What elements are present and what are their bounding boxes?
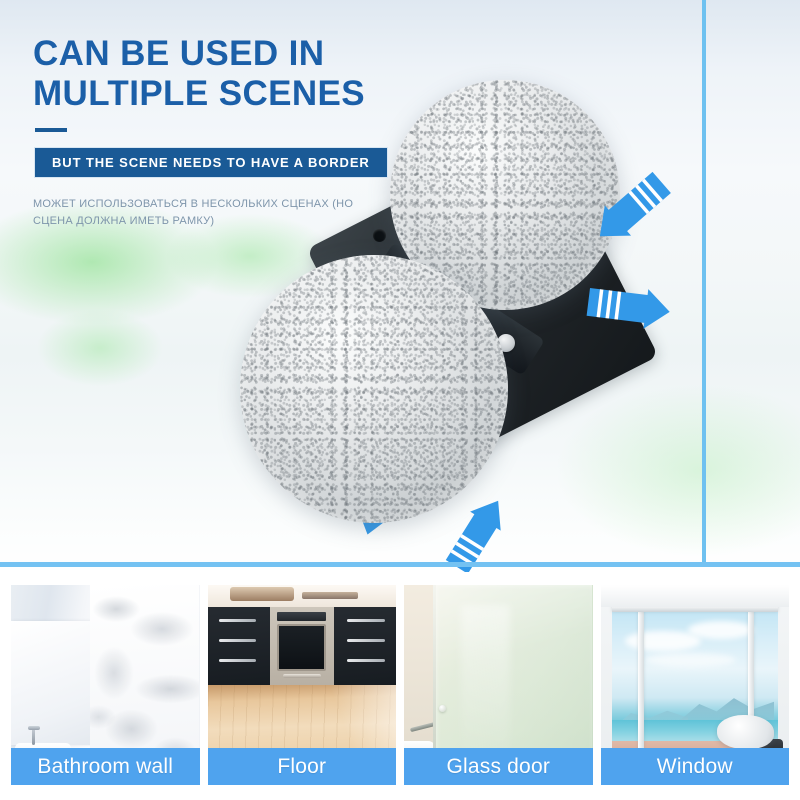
hero-baseline-rule bbox=[0, 562, 800, 567]
scene-label-glass-door: Glass door bbox=[404, 748, 593, 785]
scene-card-bathroom-wall[interactable]: Bathroom wall bbox=[11, 585, 200, 785]
headline-line-2: MULTIPLE SCENES bbox=[33, 74, 433, 114]
hero-section: CAN BE USED IN MULTIPLE SCENES BUT THE S… bbox=[0, 0, 800, 572]
arrow-up-right-bottom-icon bbox=[442, 490, 515, 572]
scene-card-window[interactable]: Window bbox=[601, 585, 790, 785]
scene-border-badge: BUT THE SCENE NEEDS TO HAVE A BORDER bbox=[34, 147, 388, 178]
scene-label-window: Window bbox=[601, 748, 790, 785]
scene-border-badge-label: BUT THE SCENE NEEDS TO HAVE A BORDER bbox=[52, 155, 370, 170]
scene-label-bathroom-wall: Bathroom wall bbox=[11, 748, 200, 785]
product-photo bbox=[220, 60, 720, 560]
headline-dash-accent bbox=[35, 128, 67, 132]
scene-thumbnail-row: Bathroom wall bbox=[0, 585, 800, 785]
hero-subtitle-russian: МОЖЕТ ИСПОЛЬЗОВАТЬСЯ В НЕСКОЛЬКИХ СЦЕНАХ… bbox=[33, 196, 393, 230]
headline-line-1: CAN BE USED IN bbox=[33, 34, 433, 74]
product-infographic-page: CAN BE USED IN MULTIPLE SCENES BUT THE S… bbox=[0, 0, 800, 800]
scene-card-glass-door[interactable]: Glass door bbox=[404, 585, 593, 785]
hero-headline: CAN BE USED IN MULTIPLE SCENES bbox=[33, 34, 433, 114]
scene-label-floor: Floor bbox=[208, 748, 397, 785]
scene-card-floor[interactable]: Floor bbox=[208, 585, 397, 785]
mop-bracket-hole bbox=[373, 229, 386, 242]
microfiber-pad-lower bbox=[240, 255, 508, 523]
